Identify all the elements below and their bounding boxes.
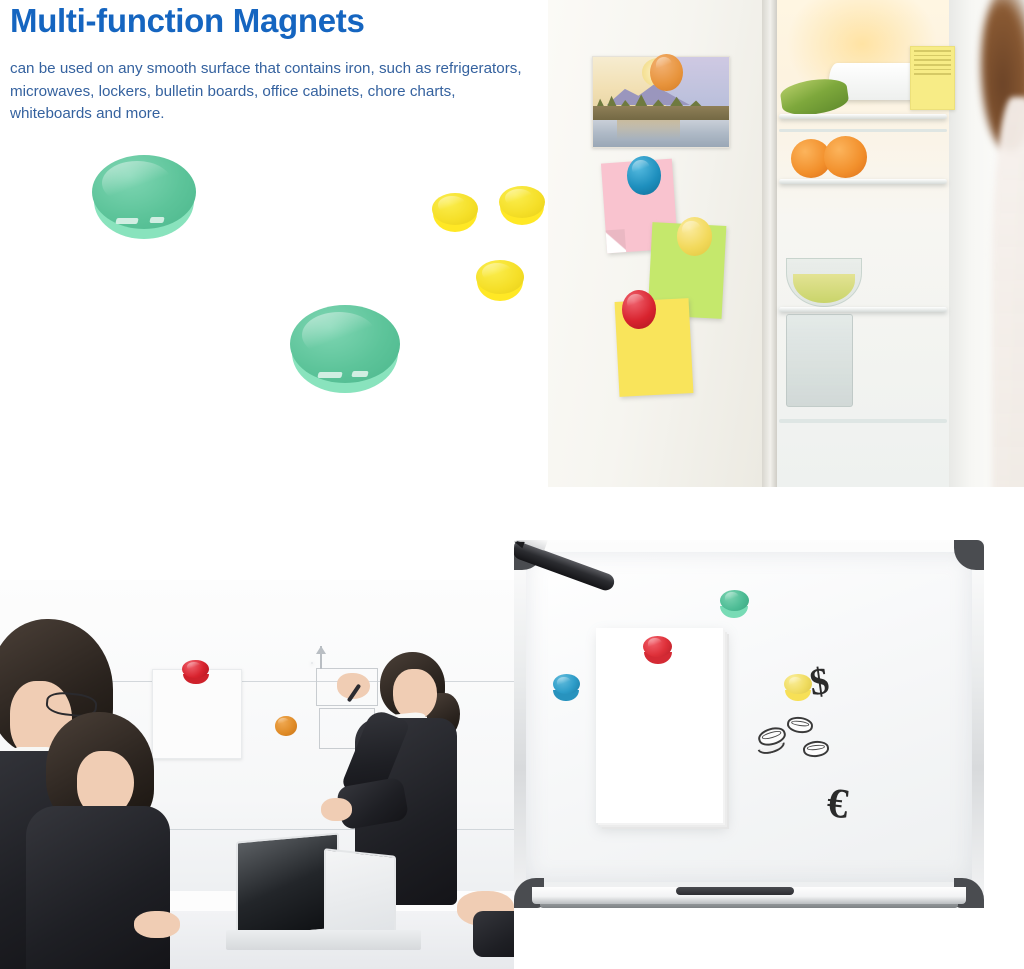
person-at-fridge [948, 0, 1024, 487]
fridge-shelf-edge-top [779, 129, 947, 132]
presenter-resting-hand [321, 798, 352, 821]
paper-on-board-right [311, 662, 313, 664]
whiteboard-surface [526, 552, 972, 882]
whiteboard-scene-photo: $ € [514, 540, 984, 908]
far-colleague-sleeve [473, 911, 514, 958]
fridge-door-gap [762, 0, 777, 487]
fridge-shelf-lower [779, 307, 947, 312]
page-title: Multi-function Magnets [10, 2, 365, 40]
fridge-shelf-top [779, 114, 947, 119]
small-yellow-magnet-1 [432, 193, 478, 233]
fridge-shelf-edge-bottom [779, 419, 947, 423]
fridge-shelf-middle [779, 179, 947, 184]
refrigerator-scene-photo [548, 0, 1024, 487]
large-green-magnet-2 [290, 305, 400, 395]
red-magnet-on-board [182, 660, 209, 683]
euro-sign-drawing: € [824, 782, 849, 826]
green-magnet-on-whiteboard [720, 590, 749, 618]
orange-in-fridge-2 [824, 136, 867, 177]
product-marketing-image: Multi-function Magnets can be used on an… [0, 0, 1024, 969]
large-green-magnet-1 [92, 155, 196, 240]
board-diagram-arrow [320, 646, 322, 669]
blue-magnet-on-whiteboard [553, 674, 580, 700]
red-magnet-on-yellow-note [622, 290, 656, 329]
red-magnet-on-whiteboard [643, 636, 672, 664]
laptop-right-screen [324, 849, 396, 942]
colleague2-hand [134, 911, 180, 938]
small-yellow-magnet-2 [499, 186, 545, 226]
yellow-magnet-on-whiteboard [784, 674, 811, 700]
orange-magnet-on-photo [650, 54, 682, 91]
person-body [992, 97, 1024, 487]
blue-magnet-on-pink-note [627, 156, 661, 195]
whiteboard-tray-marker [676, 887, 794, 895]
meeting-room-scene-photo [0, 580, 514, 969]
small-yellow-magnet-3 [476, 260, 524, 302]
colleague2-jacket [26, 806, 170, 969]
fridge-crisper-drawer [786, 314, 853, 407]
orange-magnet-on-board [275, 716, 297, 735]
page-description: can be used on any smooth surface that c… [10, 58, 535, 126]
salad-contents [793, 274, 855, 303]
yellow-magnet-on-green-note [677, 217, 713, 256]
laptop-right-base [319, 930, 422, 949]
